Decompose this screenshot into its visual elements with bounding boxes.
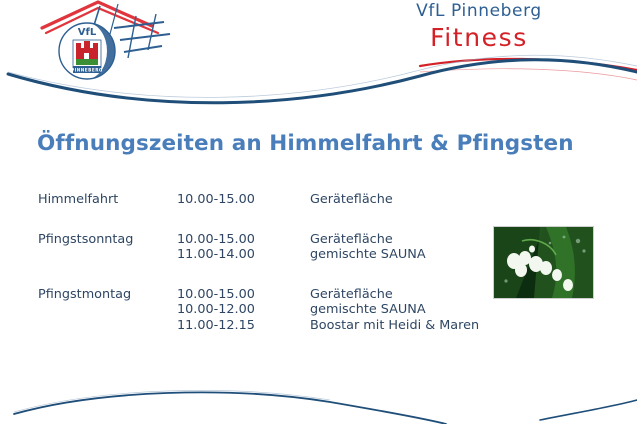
table-row: Himmelfahrt 10.00-15.00 Gerätefläche bbox=[38, 192, 478, 208]
slot-list: 10.00-15.00 Gerätefläche bbox=[177, 192, 478, 208]
droplet bbox=[549, 242, 552, 245]
droplet bbox=[563, 236, 566, 239]
slot-activity: gemischte SAUNA bbox=[310, 302, 426, 318]
logo-stroke-3 bbox=[114, 22, 164, 28]
vfl-pinneberg-logo: VfL PINNEBERG bbox=[40, 0, 220, 92]
slot-time: 10.00-15.00 bbox=[177, 287, 255, 303]
flower-bell bbox=[540, 261, 552, 275]
slot-time: 10.00-12.00 bbox=[177, 302, 255, 318]
brand-club-name: VfL Pinneberg bbox=[369, 2, 589, 21]
brand-wordmark: VfL Pinneberg Fitness bbox=[369, 2, 589, 54]
crest-emblem: VfL PINNEBERG bbox=[59, 23, 115, 79]
photo-graphic bbox=[494, 227, 593, 298]
droplet bbox=[504, 279, 507, 282]
lily-of-the-valley-photo bbox=[493, 226, 594, 299]
logo-stroke-4 bbox=[120, 34, 170, 40]
slot-time: 10.00-15.00 bbox=[177, 192, 255, 208]
list-item: 11.00-12.15 Boostar mit Heidi & Maren bbox=[177, 318, 478, 334]
list-item: 10.00-15.00 Gerätefläche bbox=[177, 287, 478, 303]
page-header: VfL PINNEBERG VfL Pinneberg Fitness bbox=[0, 0, 637, 112]
castle-ground bbox=[76, 59, 98, 65]
castle-gate bbox=[84, 53, 89, 59]
slot-time: 10.00-15.00 bbox=[177, 232, 255, 248]
slot-activity: Gerätefläche bbox=[310, 232, 393, 248]
crest-pinneberg-text: PINNEBERG bbox=[71, 68, 103, 73]
castle-tower-right bbox=[93, 43, 98, 49]
slot-list: 10.00-15.00 Gerätefläche 11.00-14.00 gem… bbox=[177, 232, 478, 263]
day-label: Pfingstmontag bbox=[38, 287, 131, 302]
table-row: Pfingstmontag 10.00-15.00 Gerätefläche 1… bbox=[38, 287, 478, 334]
table-row: Pfingstsonntag 10.00-15.00 Gerätefläche … bbox=[38, 232, 478, 263]
castle-tower-left bbox=[76, 43, 81, 49]
castle-tower-center bbox=[84, 41, 90, 49]
droplet bbox=[576, 239, 580, 243]
logo-graphic: VfL PINNEBERG bbox=[40, 0, 220, 92]
day-label: Pfingstsonntag bbox=[38, 232, 133, 247]
footer-wave-right bbox=[540, 400, 637, 420]
flower-bell bbox=[552, 269, 562, 281]
slot-activity: Boostar mit Heidi & Maren bbox=[310, 318, 479, 334]
opening-hours-table: Himmelfahrt 10.00-15.00 Gerätefläche Pfi… bbox=[38, 192, 478, 333]
flower-bell bbox=[563, 279, 573, 291]
slot-list: 10.00-15.00 Gerätefläche 10.00-12.00 gem… bbox=[177, 287, 478, 334]
droplet bbox=[582, 249, 585, 252]
list-item: 10.00-15.00 Gerätefläche bbox=[177, 232, 478, 248]
slot-activity: Gerätefläche bbox=[310, 287, 393, 303]
list-item: 10.00-12.00 gemischte SAUNA bbox=[177, 302, 478, 318]
crest-vfl-text: VfL bbox=[78, 27, 97, 38]
flower-bud bbox=[529, 246, 535, 253]
footer-wave-left bbox=[14, 392, 446, 424]
slot-time: 11.00-12.15 bbox=[177, 318, 255, 334]
footer-wave-decoration bbox=[0, 378, 637, 424]
slot-time: 11.00-14.00 bbox=[177, 247, 255, 263]
slot-activity: Gerätefläche bbox=[310, 192, 393, 208]
list-item: 10.00-15.00 Gerätefläche bbox=[177, 192, 478, 208]
slot-activity: gemischte SAUNA bbox=[310, 247, 426, 263]
flower-bell bbox=[515, 263, 527, 277]
day-label: Himmelfahrt bbox=[38, 192, 118, 207]
list-item: 11.00-14.00 gemischte SAUNA bbox=[177, 247, 478, 263]
page-title: Öffnungszeiten an Himmelfahrt & Pfingste… bbox=[37, 131, 574, 156]
footer-wave-left-highlight bbox=[14, 390, 330, 412]
brand-department-name: Fitness bbox=[369, 21, 589, 55]
